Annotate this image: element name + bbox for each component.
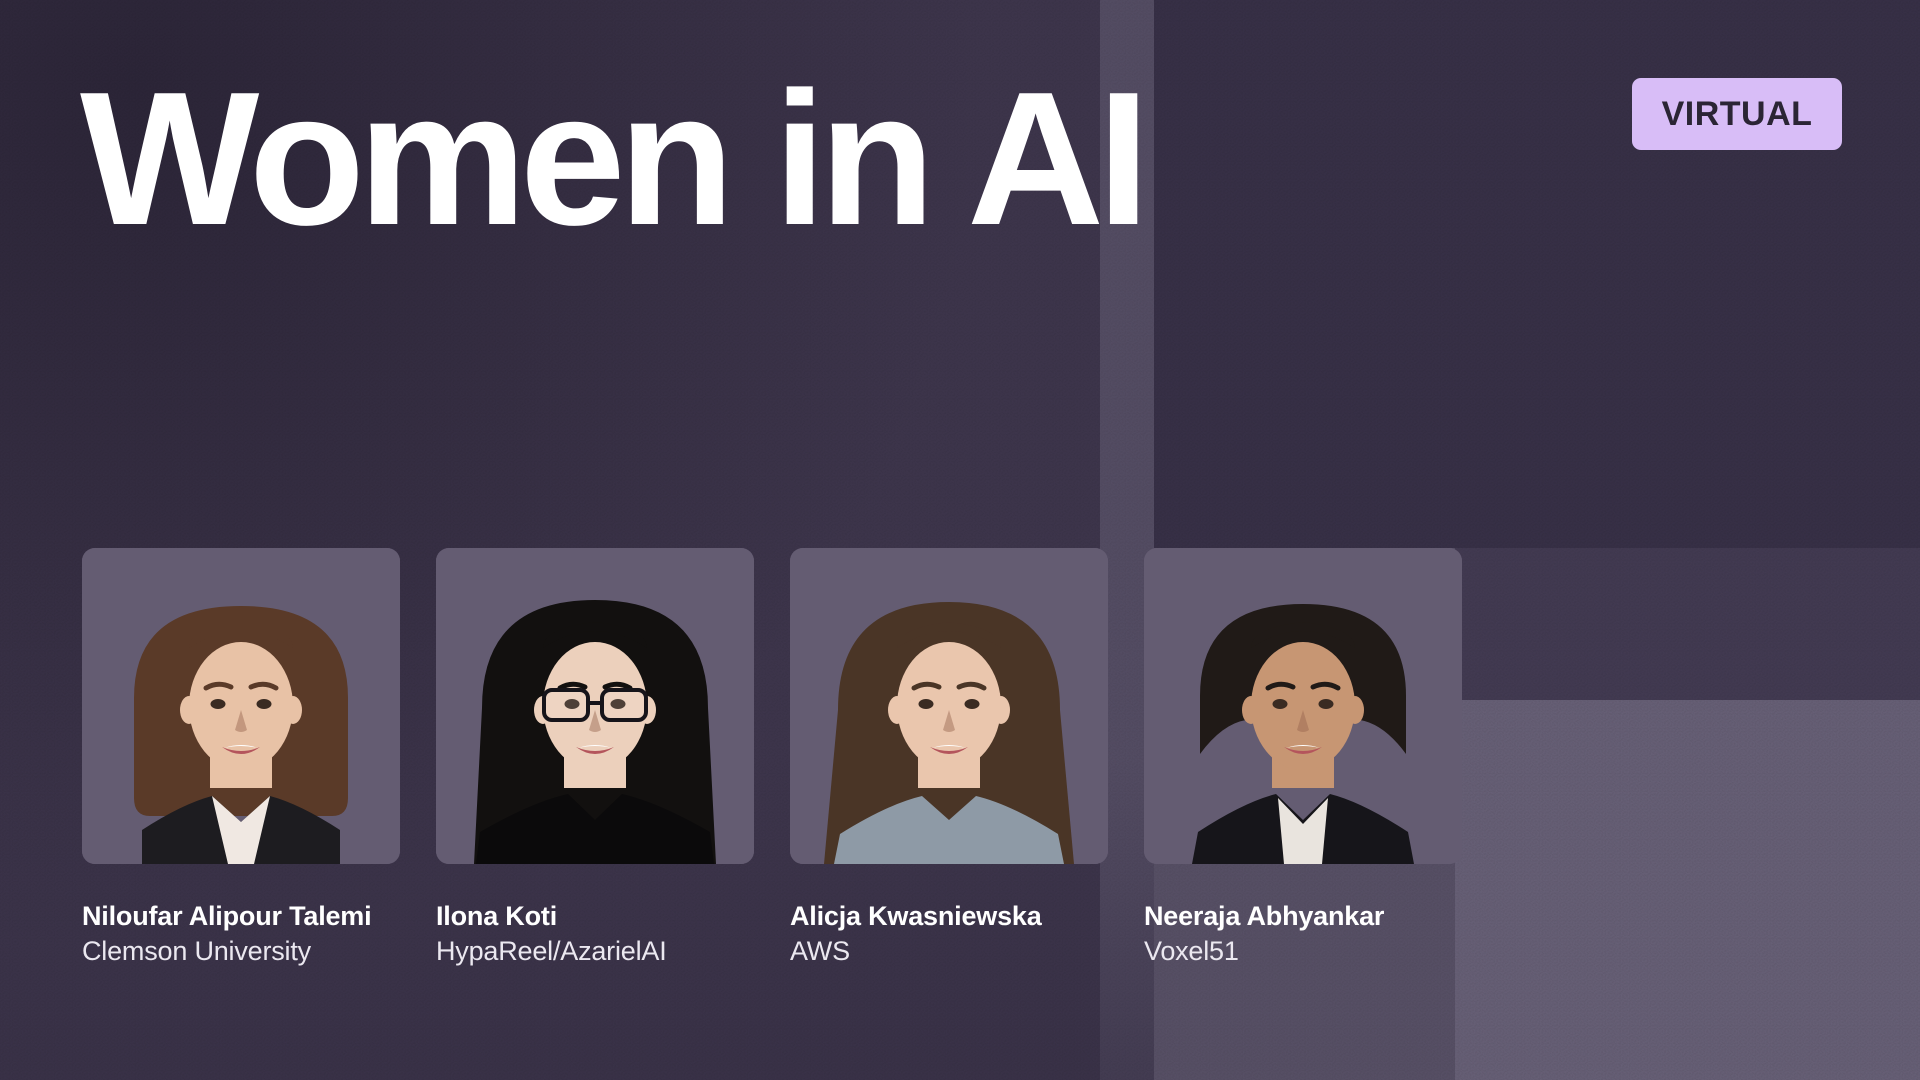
speaker-organization: Clemson University — [82, 935, 400, 967]
background-lower-block — [1455, 700, 1920, 1080]
speaker-organization: HypaReel/AzarielAI — [436, 935, 754, 967]
speaker-name: Ilona Koti — [436, 901, 754, 932]
speaker-meta: Neeraja Abhyankar Voxel51 — [1144, 901, 1462, 967]
speaker-photo — [82, 548, 400, 864]
status-badge-label: VIRTUAL — [1662, 95, 1813, 134]
speaker-name: Alicja Kwasniewska — [790, 901, 1108, 932]
speaker-meta: Alicja Kwasniewska AWS — [790, 901, 1108, 967]
background-dark-strip — [1455, 548, 1920, 700]
speaker-name: Neeraja Abhyankar — [1144, 901, 1462, 932]
speaker-meta: Niloufar Alipour Talemi Clemson Universi… — [82, 901, 400, 967]
page-title: Women in AI — [80, 60, 1143, 260]
speaker-name: Niloufar Alipour Talemi — [82, 901, 400, 932]
speaker-photo — [436, 548, 754, 864]
speaker-card: Ilona Koti HypaReel/AzarielAI — [436, 548, 754, 967]
status-badge: VIRTUAL — [1632, 78, 1842, 150]
speaker-organization: AWS — [790, 935, 1108, 967]
speaker-card: Niloufar Alipour Talemi Clemson Universi… — [82, 548, 400, 967]
speaker-photo — [1144, 548, 1462, 864]
speaker-list: Niloufar Alipour Talemi Clemson Universi… — [82, 548, 1462, 967]
speaker-organization: Voxel51 — [1144, 935, 1462, 967]
speaker-card: Alicja Kwasniewska AWS — [790, 548, 1108, 967]
speaker-card: Neeraja Abhyankar Voxel51 — [1144, 548, 1462, 967]
speaker-photo — [790, 548, 1108, 864]
speaker-meta: Ilona Koti HypaReel/AzarielAI — [436, 901, 754, 967]
